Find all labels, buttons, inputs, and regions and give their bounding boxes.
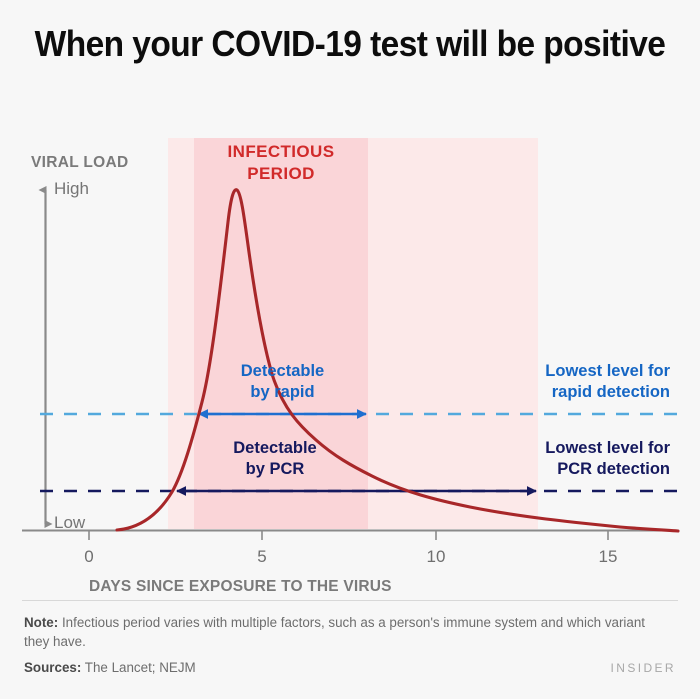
- rapid-range-line2: by rapid: [250, 383, 314, 401]
- x-tick-10: 10: [416, 547, 456, 567]
- footnote-text: Infectious period varies with multiple f…: [24, 615, 645, 649]
- infographic-canvas: When your COVID-19 test will be positive…: [0, 0, 700, 699]
- pcr-level-line2: PCR detection: [557, 460, 670, 478]
- sources-label: Sources:: [24, 660, 81, 675]
- brand-logo: INSIDER: [611, 661, 676, 675]
- rapid-level-line1: Lowest level for: [545, 362, 670, 380]
- pcr-range-label: Detectable by PCR: [185, 438, 365, 480]
- pcr-threshold-label: Lowest level for PCR detection: [470, 438, 670, 480]
- rapid-level-line2: rapid detection: [552, 383, 670, 401]
- sources-text: The Lancet; NEJM: [81, 660, 195, 675]
- footnote-label: Note:: [24, 615, 58, 630]
- y-axis-high-label: High: [54, 179, 89, 199]
- pcr-range-line2: by PCR: [246, 460, 305, 478]
- x-axis-title: DAYS SINCE EXPOSURE TO THE VIRUS: [89, 578, 392, 596]
- sources-line: Sources: The Lancet; NEJM: [24, 660, 196, 675]
- y-axis-title: VIRAL LOAD: [31, 154, 128, 172]
- pcr-level-line1: Lowest level for: [545, 439, 670, 457]
- x-tick-5: 5: [242, 547, 282, 567]
- footer-divider: [22, 600, 678, 601]
- footnote: Note: Infectious period varies with mult…: [24, 613, 664, 651]
- x-tick-15: 15: [588, 547, 628, 567]
- pcr-range-line1: Detectable: [233, 439, 316, 457]
- rapid-range-line1: Detectable: [241, 362, 324, 380]
- y-axis-low-label: Low: [54, 513, 85, 533]
- x-tick-0: 0: [69, 547, 109, 567]
- rapid-range-label: Detectable by rapid: [200, 361, 365, 403]
- rapid-threshold-label: Lowest level for rapid detection: [470, 361, 670, 403]
- x-axis-ticks: [89, 531, 608, 540]
